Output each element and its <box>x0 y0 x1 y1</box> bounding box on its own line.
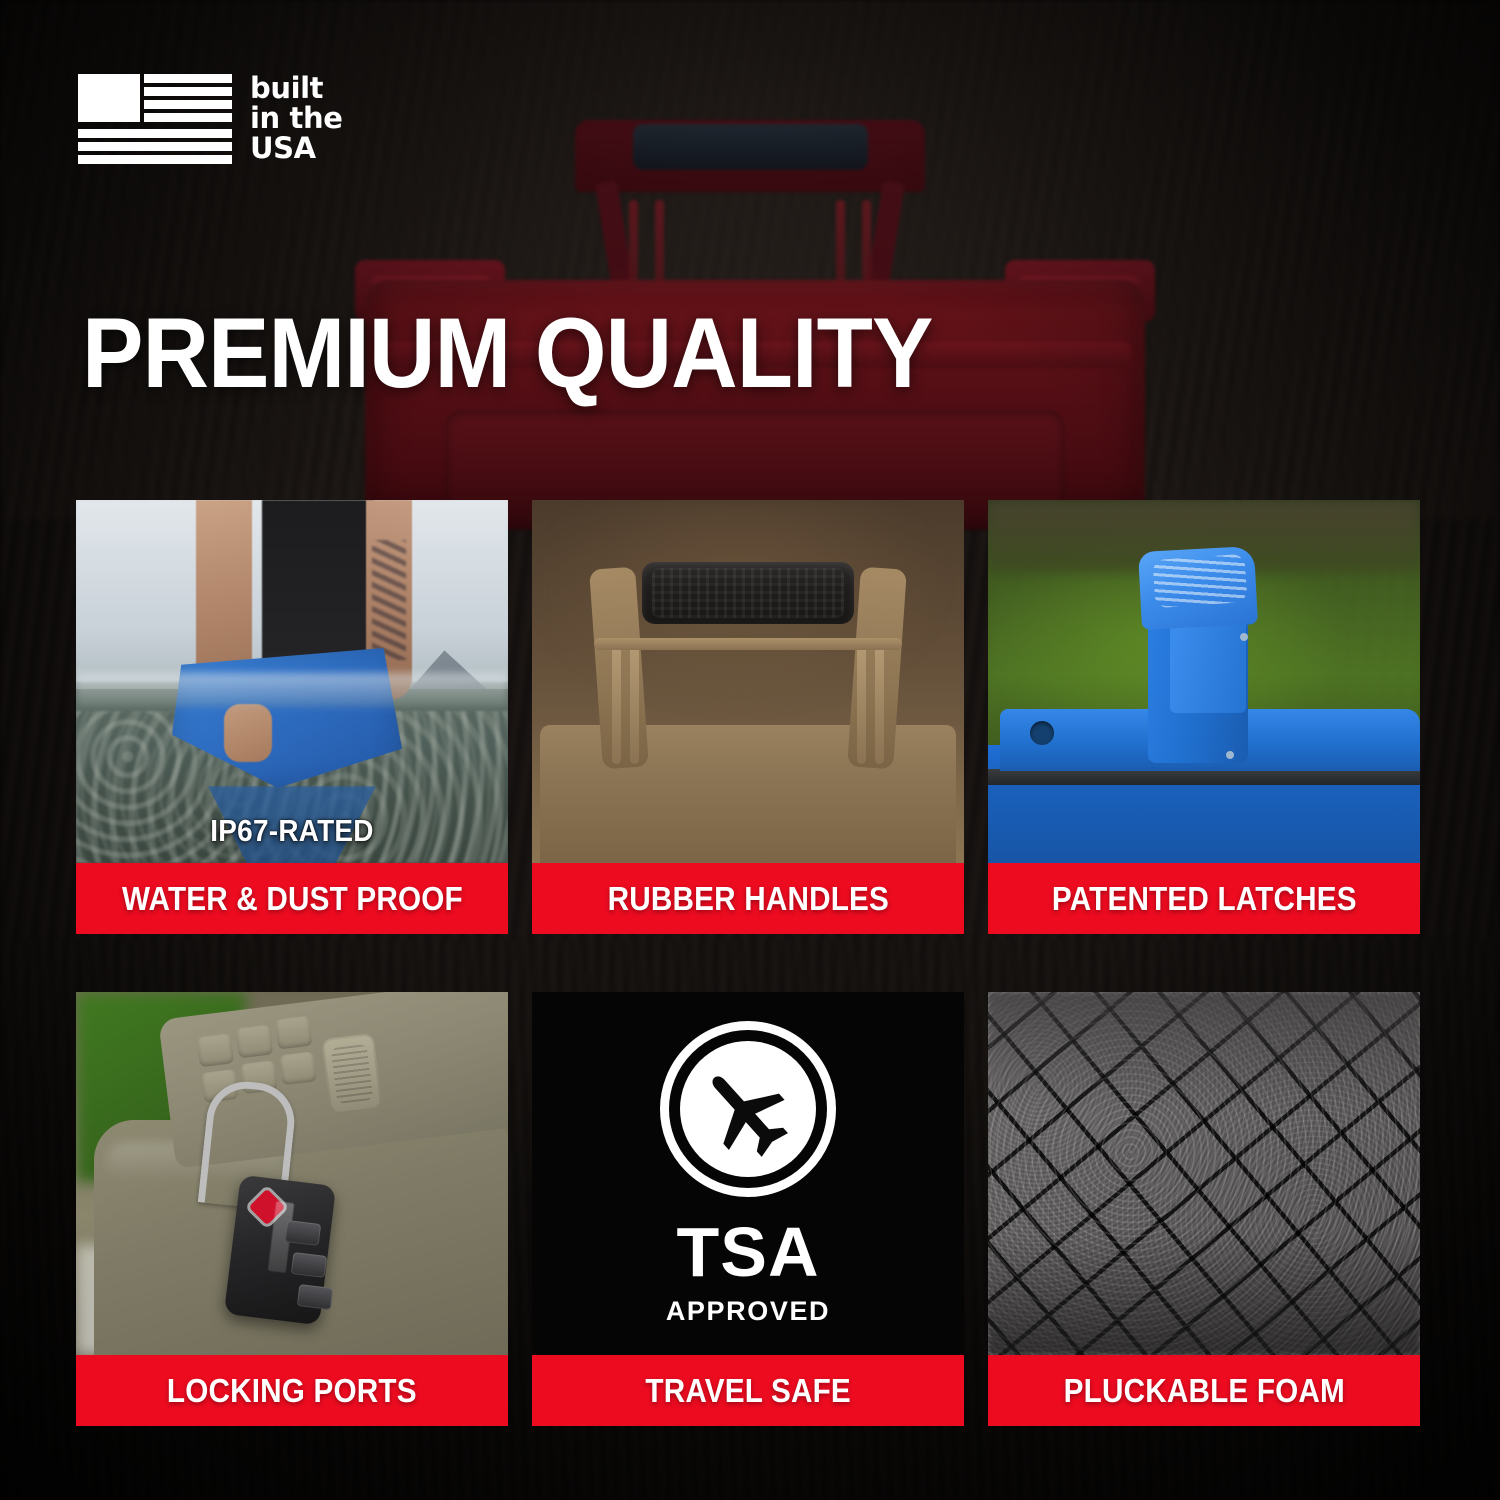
photo-gasket <box>988 769 1420 785</box>
badge-line-2: in the <box>250 104 342 134</box>
feature-label-bar-locking-ports: LOCKING PORTS <box>76 1355 508 1426</box>
photo-valve-texture <box>331 1044 374 1104</box>
feature-label-bar-rubber-handles: RUBBER HANDLES <box>532 863 964 934</box>
photo-latch-ridges <box>1152 554 1247 608</box>
flag-stripe <box>78 129 232 138</box>
feature-label-bar-water-dust-proof: WATER & DUST PROOF <box>76 863 508 934</box>
photo-rubber-handle <box>532 500 964 863</box>
flag-canton <box>78 74 140 122</box>
feature-label-text: PLUCKABLE FOAM <box>1063 1372 1344 1410</box>
feature-label-bar-patented-latches: PATENTED LATCHES <box>988 863 1420 934</box>
rubber-grip <box>642 562 854 624</box>
photo-handle-frame <box>590 562 906 772</box>
flag-stripe <box>144 87 232 96</box>
handle-tine <box>612 644 621 764</box>
photo-hand <box>224 704 272 762</box>
lid-pad <box>236 1024 273 1058</box>
built-in-usa-text: built in the USA <box>250 74 342 164</box>
padlock-dial <box>297 1284 333 1310</box>
feature-label-bar-pluckable-foam: PLUCKABLE FOAM <box>988 1355 1420 1426</box>
foam-bottom-blur <box>988 1235 1420 1355</box>
feature-photo-locking-ports <box>76 992 508 1355</box>
flag-stripe <box>144 100 232 109</box>
flag-stripe <box>78 155 232 164</box>
feature-label-text: LOCKING PORTS <box>167 1372 417 1410</box>
usa-flag-icon <box>78 74 232 167</box>
handle-tine <box>875 644 884 764</box>
handle-tine <box>630 644 639 764</box>
photo-tattoo <box>372 540 406 660</box>
padlock-dial <box>291 1252 327 1278</box>
feature-photo-travel-safe: TSA APPROVED <box>532 992 964 1355</box>
feature-label-text: WATER & DUST PROOF <box>122 880 463 918</box>
lid-pad <box>275 1016 312 1050</box>
photo-padlock-hole <box>1030 721 1054 745</box>
photo-locking-port <box>76 992 508 1355</box>
lid-pad <box>197 1033 234 1067</box>
feature-card-rubber-handles: RUBBER HANDLES <box>532 500 964 934</box>
feature-overlay-tag-ip67: IP67-RATED <box>98 813 487 849</box>
tsa-approved-badge: TSA APPROVED <box>532 992 964 1355</box>
photo-latch-screw <box>1226 751 1234 759</box>
rubber-grip-texture <box>652 568 844 618</box>
handle-tine <box>857 644 866 764</box>
feature-card-locking-ports: LOCKING PORTS <box>76 992 508 1426</box>
photo-latch-screw <box>1240 633 1248 641</box>
photo-pluck-foam <box>988 992 1420 1355</box>
feature-label-text: TRAVEL SAFE <box>645 1372 851 1410</box>
flag-stripe <box>144 113 232 122</box>
feature-photo-patented-latches <box>988 500 1420 863</box>
feature-card-travel-safe: TSA APPROVED TRAVEL SAFE <box>532 992 964 1426</box>
photo-case-submerged <box>76 500 508 863</box>
feature-photo-pluckable-foam <box>988 992 1420 1355</box>
feature-label-text: RUBBER HANDLES <box>607 880 888 918</box>
foam-top-blur <box>988 992 1420 1112</box>
feature-label-text: PATENTED LATCHES <box>1052 880 1357 918</box>
flag-stripe <box>144 74 232 83</box>
badge-line-1: built <box>250 74 342 104</box>
feature-grid: IP67-RATED WATER & DUST PROOF <box>76 500 1420 1426</box>
built-in-usa-badge: built in the USA <box>78 74 342 167</box>
tsa-subtitle: APPROVED <box>666 1296 830 1327</box>
feature-photo-rubber-handles <box>532 500 964 863</box>
feature-card-patented-latches: PATENTED LATCHES <box>988 500 1420 934</box>
padlock-dial <box>285 1220 321 1246</box>
badge-line-3: USA <box>250 134 342 164</box>
photo-waterline <box>76 673 508 707</box>
flag-stripe <box>78 142 232 151</box>
feature-photo-water-dust-proof: IP67-RATED <box>76 500 508 863</box>
product-feature-poster: built in the USA PREMIUM QUALITY <box>0 0 1500 1500</box>
lid-pad <box>279 1051 316 1085</box>
tsa-title: TSA <box>677 1217 820 1287</box>
feature-label-bar-travel-safe: TRAVEL SAFE <box>532 1355 964 1426</box>
handle-crossbar <box>594 638 902 650</box>
page-title: PREMIUM QUALITY <box>82 303 932 402</box>
tsa-inner-disc <box>680 1041 816 1177</box>
feature-card-water-dust-proof: IP67-RATED WATER & DUST PROOF <box>76 500 508 934</box>
photo-blue-latch <box>988 500 1420 863</box>
tsa-circle-ring <box>660 1021 836 1197</box>
feature-card-pluckable-foam: PLUCKABLE FOAM <box>988 992 1420 1426</box>
airplane-icon <box>696 1057 800 1161</box>
